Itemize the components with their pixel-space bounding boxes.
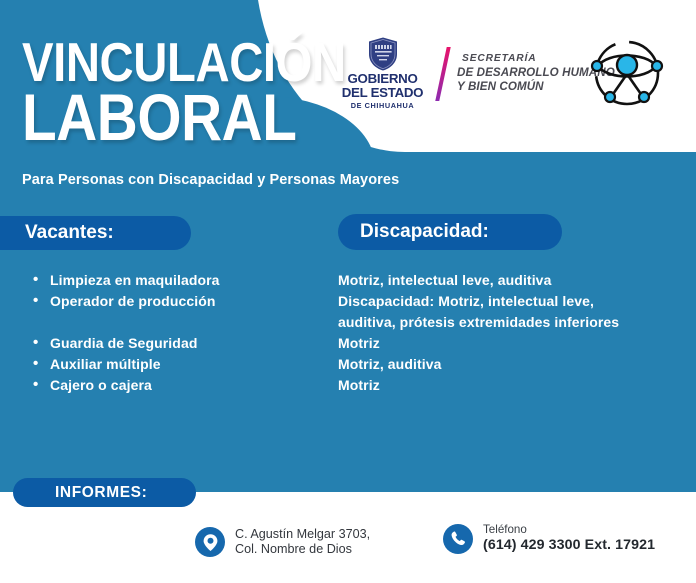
- disability-heading-pill: Discapacidad:: [338, 214, 562, 250]
- informes-heading-label: INFORMES:: [55, 484, 147, 502]
- page-subtitle: Para Personas con Discapacidad y Persona…: [22, 172, 399, 188]
- page-title: VINCULACIÓN LABORAL: [22, 38, 282, 146]
- vacancies-heading-label: Vacantes:: [25, 222, 114, 244]
- vacancies-heading-pill: Vacantes:: [0, 216, 191, 250]
- government-logo: GOBIERNO DEL ESTADO DE CHIHUAHUA: [330, 37, 435, 110]
- map-pin-icon: [195, 527, 225, 557]
- column-spacer: [30, 312, 340, 333]
- vacancies-group-1: Limpieza en maquiladora Operador de prod…: [30, 270, 340, 312]
- disability-heading-label: Discapacidad:: [360, 221, 489, 243]
- address-line-2: Col. Nombre de Dios: [235, 542, 370, 557]
- phone-number: (614) 429 3300 Ext. 17921: [483, 537, 655, 554]
- vacancies-group-2: Guardia de Seguridad Auxiliar múltiple C…: [30, 333, 340, 396]
- gov-line-1: GOBIERNO: [348, 72, 418, 85]
- disability-column: Motriz, intelectual leve, auditiva Disca…: [338, 270, 688, 396]
- phone-text: Teléfono (614) 429 3300 Ext. 17921: [483, 523, 655, 554]
- list-item: Motriz, auditiva: [338, 354, 688, 375]
- list-item: Motriz: [338, 333, 688, 354]
- vacancies-column: Limpieza en maquiladora Operador de prod…: [30, 270, 340, 396]
- contact-phone: Teléfono (614) 429 3300 Ext. 17921: [443, 523, 655, 554]
- list-item: Limpieza en maquiladora: [30, 270, 340, 291]
- list-item: Auxiliar múltiple: [30, 354, 340, 375]
- list-item: Motriz, intelectual leve, auditiva: [338, 270, 688, 291]
- informes-heading-pill: INFORMES:: [13, 478, 196, 507]
- list-item: Operador de producción: [30, 291, 340, 312]
- list-item: Motriz: [338, 375, 688, 396]
- list-item: Cajero o cajera: [30, 375, 340, 396]
- gov-line-2: DEL ESTADO: [342, 86, 423, 99]
- list-item: auditiva, prótesis extremidades inferior…: [338, 312, 688, 333]
- list-item: Discapacidad: Motriz, intelectual leve,: [338, 291, 688, 312]
- title-line-1: VINCULACIÓN: [22, 38, 246, 86]
- phone-icon: [443, 524, 473, 554]
- address-line-1: C. Agustín Melgar 3703,: [235, 527, 370, 542]
- shield-icon: [368, 37, 398, 71]
- logo-row: GOBIERNO DEL ESTADO DE CHIHUAHUA SECRETA…: [330, 36, 615, 111]
- poster-canvas: VINCULACIÓN LABORAL Para Personas con Di…: [0, 0, 696, 583]
- address-text: C. Agustín Melgar 3703, Col. Nombre de D…: [235, 527, 370, 557]
- network-eye-icon: [588, 36, 666, 110]
- logo-divider: [435, 47, 450, 101]
- title-line-2: LABORAL: [22, 88, 246, 146]
- phone-label: Teléfono: [483, 523, 655, 537]
- gov-line-3: DE CHIHUAHUA: [351, 101, 415, 110]
- list-item: Guardia de Seguridad: [30, 333, 340, 354]
- contact-address: C. Agustín Melgar 3703, Col. Nombre de D…: [195, 527, 370, 557]
